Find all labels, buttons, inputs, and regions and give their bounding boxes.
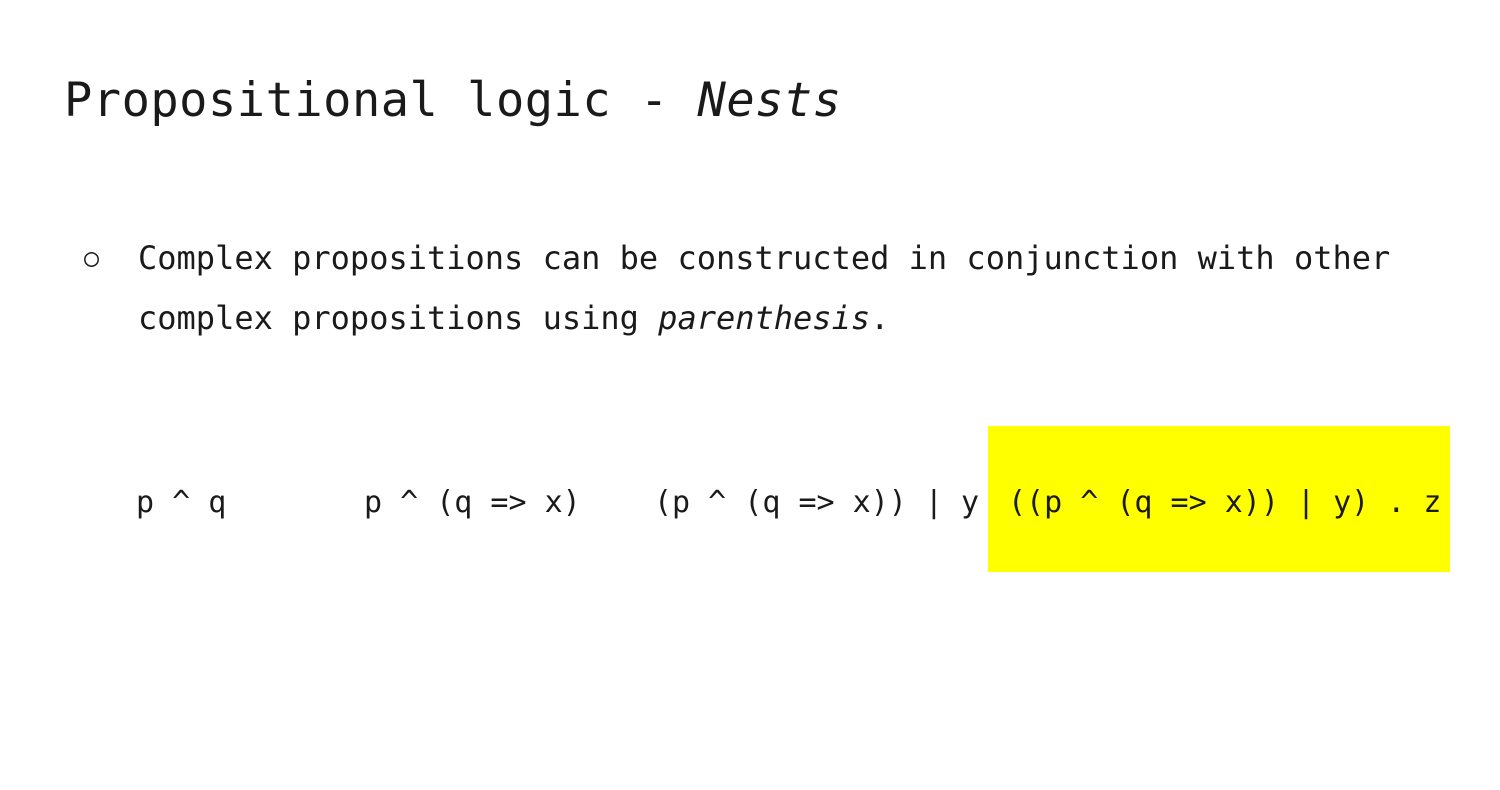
- slide-canvas: Propositional logic - Nests ○ Complex pr…: [0, 0, 1500, 790]
- page-title-separator: -: [640, 73, 698, 128]
- bullet-list: ○ Complex propositions can be constructe…: [80, 228, 1410, 348]
- page-title-main: Propositional logic: [64, 73, 640, 128]
- formula-row: p ^ q p ^ (q => x) (p ^ (q => x)) | y: [136, 476, 988, 530]
- formula-example-4-highlighted: ((p ^ (q => x)) | y) . z: [1008, 476, 1441, 530]
- bullet-text-after: .: [870, 299, 889, 337]
- page-title: Propositional logic - Nests: [64, 74, 842, 128]
- page-title-emphasis: Nests: [698, 73, 842, 128]
- formula-example-3: (p ^ (q => x)) | y: [654, 476, 988, 530]
- formula-example-1: p ^ q: [136, 476, 364, 530]
- formula-example-2: p ^ (q => x): [364, 476, 654, 530]
- list-item: ○ Complex propositions can be constructe…: [80, 228, 1410, 348]
- bullet-text-emphasis: parenthesis: [658, 299, 870, 337]
- bullet-circle-icon: ○: [80, 228, 138, 288]
- bullet-item-text: Complex propositions can be constructed …: [138, 228, 1410, 348]
